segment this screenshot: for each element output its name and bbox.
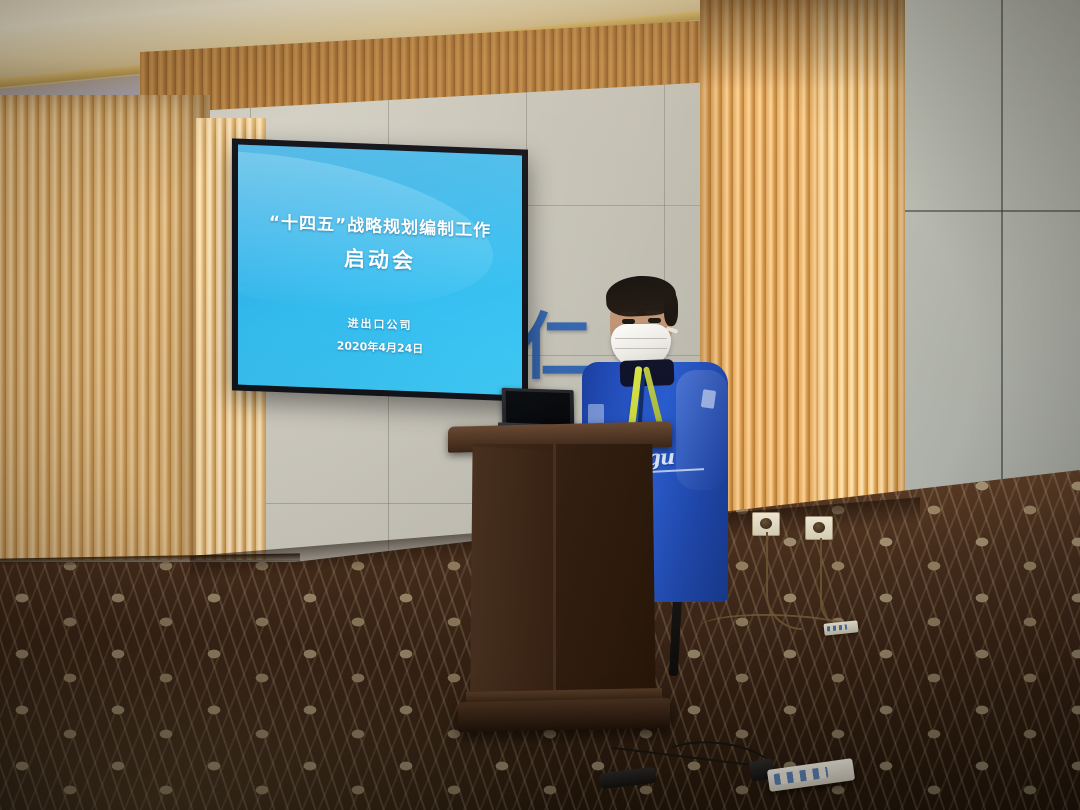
- conference-room-photo: 北 仁 “十四五”战略规划编制工作 启动会 进出口公司 2020年4月24日: [0, 0, 1080, 810]
- podium-base: [458, 698, 670, 732]
- slide-date: 2020年4月24日: [238, 334, 522, 361]
- projection-screen: “十四五”战略规划编制工作 启动会 进出口公司 2020年4月24日: [232, 138, 528, 401]
- wood-slat-shadow: [700, 0, 910, 90]
- projection-screen-surface: “十四五”战略规划编制工作 启动会 进出口公司 2020年4月24日: [238, 145, 522, 396]
- presenter-hair-side: [664, 292, 678, 326]
- jacket-sleeve-badge: [701, 389, 716, 409]
- power-cable: [820, 538, 846, 628]
- podium-corner-edge: [553, 444, 556, 714]
- wood-slat-wall-left: [0, 95, 210, 625]
- presenter-eye-right: [648, 318, 661, 323]
- podium-front-face: [470, 446, 556, 712]
- wall-socket-icon[interactable]: [805, 516, 833, 540]
- slide-subtitle: 进出口公司: [238, 311, 522, 338]
